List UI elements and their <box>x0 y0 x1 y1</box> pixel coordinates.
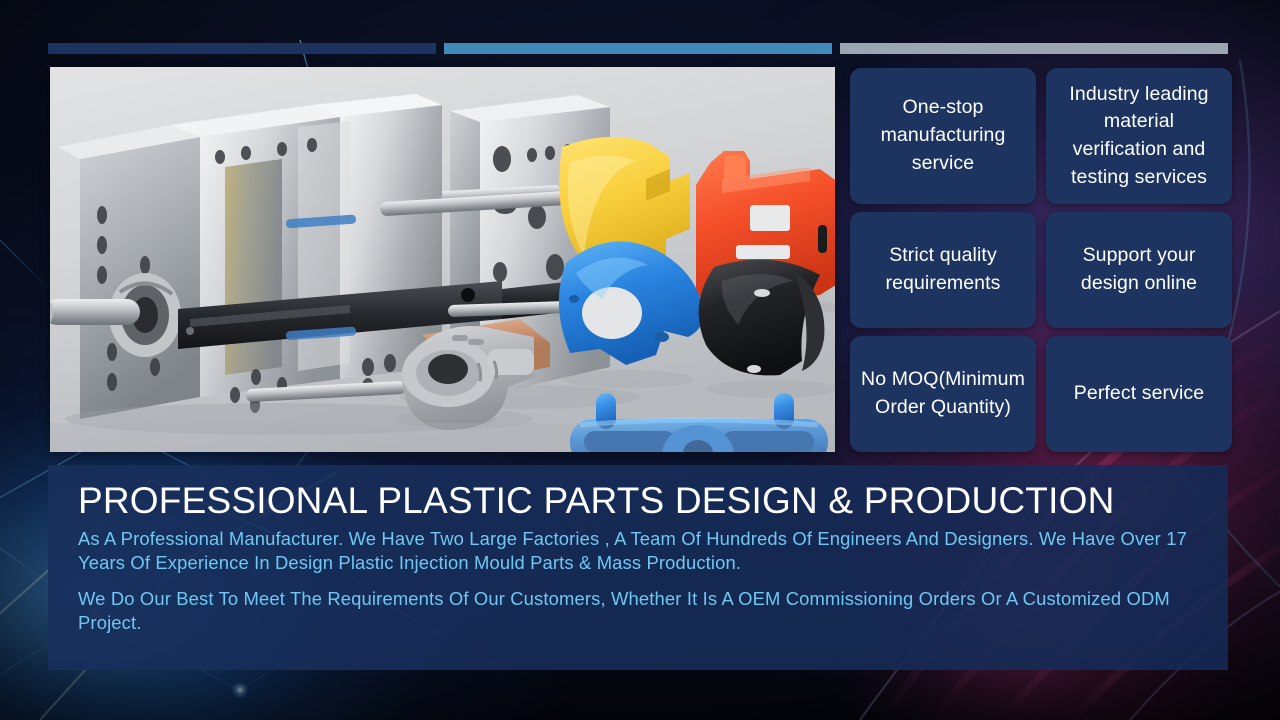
feature-card-material-verification[interactable]: Industry leading material verification a… <box>1046 68 1232 204</box>
feature-card-text: Support your design online <box>1054 242 1224 297</box>
feature-card-text: No MOQ(Minimum Order Quantity) <box>858 366 1028 421</box>
description-paragraph-1: As A Professional Manufacturer. We Have … <box>78 527 1196 574</box>
product-photo-illustration <box>50 67 835 452</box>
feature-card-grid: One-stop manufacturing service Industry … <box>850 68 1232 452</box>
description-paragraph-2: We Do Our Best To Meet The Requirements … <box>78 587 1196 634</box>
feature-card-text: Perfect service <box>1074 380 1204 408</box>
feature-card-design-online[interactable]: Support your design online <box>1046 212 1232 328</box>
accent-bar-navy <box>48 43 436 54</box>
feature-card-text: Industry leading material verification a… <box>1054 81 1224 192</box>
top-accent-bars <box>48 43 1232 54</box>
accent-bar-blue <box>444 43 832 54</box>
feature-card-one-stop[interactable]: One-stop manufacturing service <box>850 68 1036 204</box>
feature-card-no-moq[interactable]: No MOQ(Minimum Order Quantity) <box>850 336 1036 452</box>
accent-bar-gray <box>840 43 1228 54</box>
feature-card-perfect-service[interactable]: Perfect service <box>1046 336 1232 452</box>
page-title: PROFESSIONAL PLASTIC PARTS DESIGN & PROD… <box>78 481 1196 521</box>
description-panel: PROFESSIONAL PLASTIC PARTS DESIGN & PROD… <box>48 465 1228 670</box>
feature-card-text: One-stop manufacturing service <box>858 94 1028 177</box>
feature-card-strict-quality[interactable]: Strict quality requirements <box>850 212 1036 328</box>
product-photo <box>50 67 835 452</box>
feature-card-text: Strict quality requirements <box>858 242 1028 297</box>
slide-root: One-stop manufacturing service Industry … <box>0 0 1280 720</box>
